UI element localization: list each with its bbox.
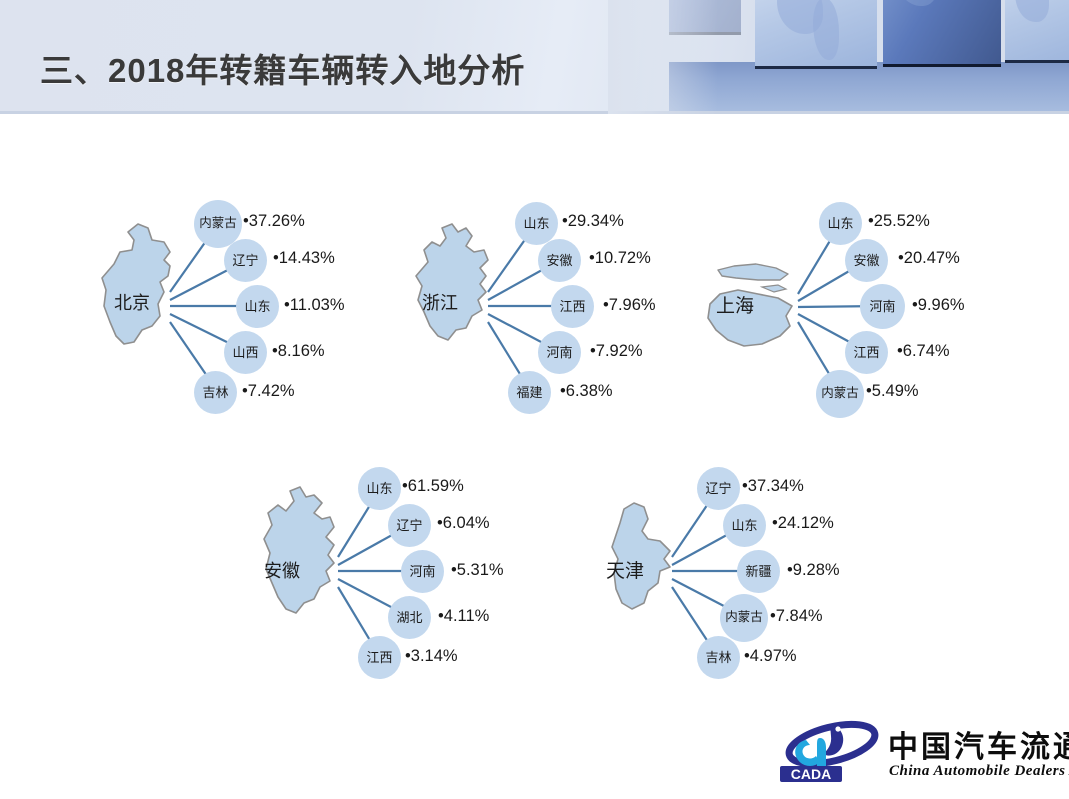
target-node[interactable]: 安徽: [845, 239, 888, 282]
target-node[interactable]: 山东: [358, 467, 401, 510]
target-node-label: 辽宁: [394, 519, 424, 533]
target-node[interactable]: 山东: [236, 285, 279, 328]
target-node-label: 山东: [242, 300, 272, 314]
target-value: •37.34%: [742, 477, 804, 496]
map-shape-anhui: [250, 419, 370, 679]
target-node-label: 山东: [364, 482, 394, 496]
target-node[interactable]: 山东: [515, 202, 558, 245]
target-node-label: 安徽: [851, 254, 881, 268]
target-node[interactable]: 安徽: [538, 239, 581, 282]
target-node-label: 辽宁: [703, 482, 733, 496]
target-value: •9.28%: [787, 561, 840, 580]
slide-header: 三、2018年转籍车辆转入地分析: [0, 0, 1069, 114]
target-value: •7.92%: [590, 342, 643, 361]
target-node[interactable]: 湖北: [388, 596, 431, 639]
target-node-label: 新疆: [743, 565, 773, 579]
target-node-label: 山西: [230, 346, 260, 360]
target-node[interactable]: 吉林: [194, 371, 237, 414]
target-node[interactable]: 辽宁: [388, 504, 431, 547]
target-value: •29.34%: [562, 212, 624, 231]
target-value: •4.97%: [744, 647, 797, 666]
target-value: •8.16%: [272, 342, 325, 361]
target-node-label: 安徽: [544, 254, 574, 268]
target-value: •10.72%: [589, 249, 651, 268]
target-value: •7.96%: [603, 296, 656, 315]
page-title: 三、2018年转籍车辆转入地分析: [40, 44, 525, 92]
banner-cube-3: [1005, 0, 1069, 63]
target-node-label: 吉林: [703, 651, 733, 665]
target-node-label: 内蒙古: [723, 611, 765, 624]
target-node-label: 河南: [407, 565, 437, 579]
target-node-label: 辽宁: [230, 254, 260, 268]
header-banner-image: [669, 0, 1069, 114]
cada-logo: CADA 中国汽车流通协会 China Automobile Dealers A…: [776, 716, 1061, 788]
target-node-label: 山东: [825, 217, 855, 231]
logo-chinese-name: 中国汽车流通协会: [888, 722, 1069, 766]
target-value: •37.26%: [243, 212, 305, 231]
target-node[interactable]: 新疆: [737, 550, 780, 593]
target-node[interactable]: 吉林: [697, 636, 740, 679]
target-value: •6.38%: [560, 382, 613, 401]
target-value: •3.14%: [405, 647, 458, 666]
cada-logo-mark: CADA: [776, 718, 884, 784]
target-node[interactable]: 辽宁: [697, 467, 740, 510]
target-value: •6.74%: [897, 342, 950, 361]
map-shape-tianjin: [590, 419, 700, 679]
target-node[interactable]: 辽宁: [224, 239, 267, 282]
map-shape-beijing: [90, 154, 200, 414]
target-node-label: 吉林: [200, 386, 230, 400]
target-value: •5.49%: [866, 382, 919, 401]
target-value: •20.47%: [898, 249, 960, 268]
target-node[interactable]: 江西: [845, 331, 888, 374]
target-node[interactable]: 福建: [508, 371, 551, 414]
cluster-beijing: 北京 内蒙古 •37.26% 辽宁 •14.43% 山东 •11.03% 山西 …: [90, 154, 430, 414]
logo-english-name: China Automobile Dealers Association: [889, 763, 1069, 780]
target-node-label: 内蒙古: [819, 387, 861, 400]
target-node[interactable]: 内蒙古: [720, 594, 768, 642]
cluster-tianjin: 天津 辽宁 •37.34% 山东 •24.12% 新疆 •9.28% 内蒙古 •…: [590, 419, 930, 679]
target-node[interactable]: 河南: [538, 331, 581, 374]
target-value: •14.43%: [273, 249, 335, 268]
target-node-label: 河南: [544, 346, 574, 360]
map-shape-zhejiang: [400, 154, 520, 414]
target-node[interactable]: 江西: [551, 285, 594, 328]
diagram-stage: 北京 内蒙古 •37.26% 辽宁 •14.43% 山东 •11.03% 山西 …: [0, 114, 1069, 714]
target-value: •9.96%: [912, 296, 965, 315]
target-node-label: 湖北: [394, 611, 424, 625]
target-value: •24.12%: [772, 514, 834, 533]
target-node[interactable]: 山东: [819, 202, 862, 245]
target-node[interactable]: 江西: [358, 636, 401, 679]
banner-cube-1: [755, 0, 877, 69]
target-node[interactable]: 河南: [401, 550, 444, 593]
target-node-label: 江西: [557, 300, 587, 314]
target-value: •7.84%: [770, 607, 823, 626]
target-value: •25.52%: [868, 212, 930, 231]
banner-cube-2: [883, 0, 1001, 67]
target-node[interactable]: 山西: [224, 331, 267, 374]
target-node-label: 江西: [851, 346, 881, 360]
target-node-label: 江西: [364, 651, 394, 665]
target-value: •6.04%: [437, 514, 490, 533]
target-value: •11.03%: [284, 296, 345, 315]
target-node[interactable]: 山东: [723, 504, 766, 547]
target-value: •7.42%: [242, 382, 295, 401]
target-node[interactable]: 河南: [860, 284, 905, 329]
target-node-label: 山东: [729, 519, 759, 533]
target-value: •61.59%: [402, 477, 464, 496]
banner-floor: [669, 62, 1069, 114]
target-node-label: 河南: [867, 300, 897, 314]
cluster-shanghai: 上海 山东 •25.52% 安徽 •20.47% 河南 •9.96% 江西 •6…: [700, 154, 1040, 414]
cluster-anhui: 安徽 山东 •61.59% 辽宁 •6.04% 河南 •5.31% 湖北 •4.…: [250, 419, 590, 679]
target-node-label: 福建: [514, 386, 544, 400]
target-node-label: 山东: [521, 217, 551, 231]
banner-fade: [608, 0, 718, 114]
map-shape-shanghai: [700, 154, 830, 414]
target-node-label: 内蒙古: [197, 217, 239, 230]
svg-text:CADA: CADA: [791, 766, 831, 782]
cluster-zhejiang: 浙江 山东 •29.34% 安徽 •10.72% 江西 •7.96% 河南 •7…: [400, 154, 740, 414]
target-value: •4.11%: [438, 607, 489, 626]
target-value: •5.31%: [451, 561, 504, 580]
target-node[interactable]: 内蒙古: [816, 370, 864, 418]
